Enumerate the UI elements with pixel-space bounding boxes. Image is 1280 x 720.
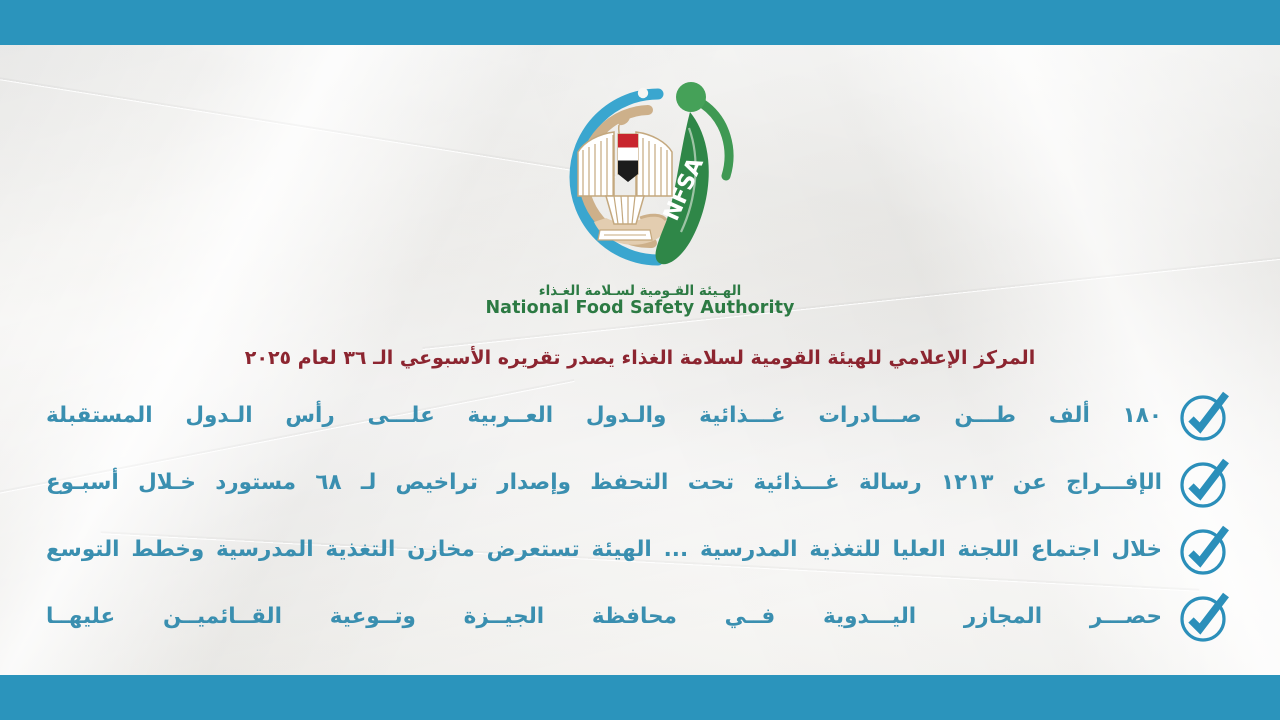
check-circle-icon bbox=[1176, 522, 1232, 578]
list-item-text: حصـــر المجازر اليـــدوية فــي محافظة ال… bbox=[40, 604, 1162, 630]
page-title: المركز الإعلامي للهيئة القومية لسلامة ال… bbox=[0, 347, 1280, 369]
check-circle-icon bbox=[1176, 455, 1232, 511]
check-circle-icon bbox=[1176, 388, 1232, 444]
list-item: خلال اجتماع اللجنة العليا للتغذية المدرس… bbox=[40, 516, 1240, 583]
check-circle-icon bbox=[1176, 589, 1232, 645]
list-item-text: ١٨٠ ألف طـــن صـــادرات غـــذائية والـدو… bbox=[40, 403, 1162, 429]
bullet-list: ١٨٠ ألف طـــن صـــادرات غـــذائية والـدو… bbox=[40, 382, 1240, 650]
list-item: الإفـــراج عن ١٢١٣ رسالة غـــذائية تحت ا… bbox=[40, 449, 1240, 516]
list-item: حصـــر المجازر اليـــدوية فــي محافظة ال… bbox=[40, 583, 1240, 650]
slide: NFSA bbox=[0, 0, 1280, 720]
organization-logo: NFSA bbox=[0, 72, 1280, 318]
top-bar bbox=[0, 0, 1280, 45]
logo-name-english: National Food Safety Authority bbox=[485, 299, 794, 317]
logo-text-block: الهـيئة القـومية لسـلامة الغـذاء Nationa… bbox=[485, 284, 794, 318]
nfsa-logo-icon: NFSA bbox=[540, 72, 740, 282]
list-item-text: الإفـــراج عن ١٢١٣ رسالة غـــذائية تحت ا… bbox=[40, 470, 1162, 496]
bottom-bar bbox=[0, 675, 1280, 720]
logo-name-arabic: الهـيئة القـومية لسـلامة الغـذاء bbox=[485, 284, 794, 298]
list-item-text: خلال اجتماع اللجنة العليا للتغذية المدرس… bbox=[40, 537, 1162, 563]
list-item: ١٨٠ ألف طـــن صـــادرات غـــذائية والـدو… bbox=[40, 382, 1240, 449]
